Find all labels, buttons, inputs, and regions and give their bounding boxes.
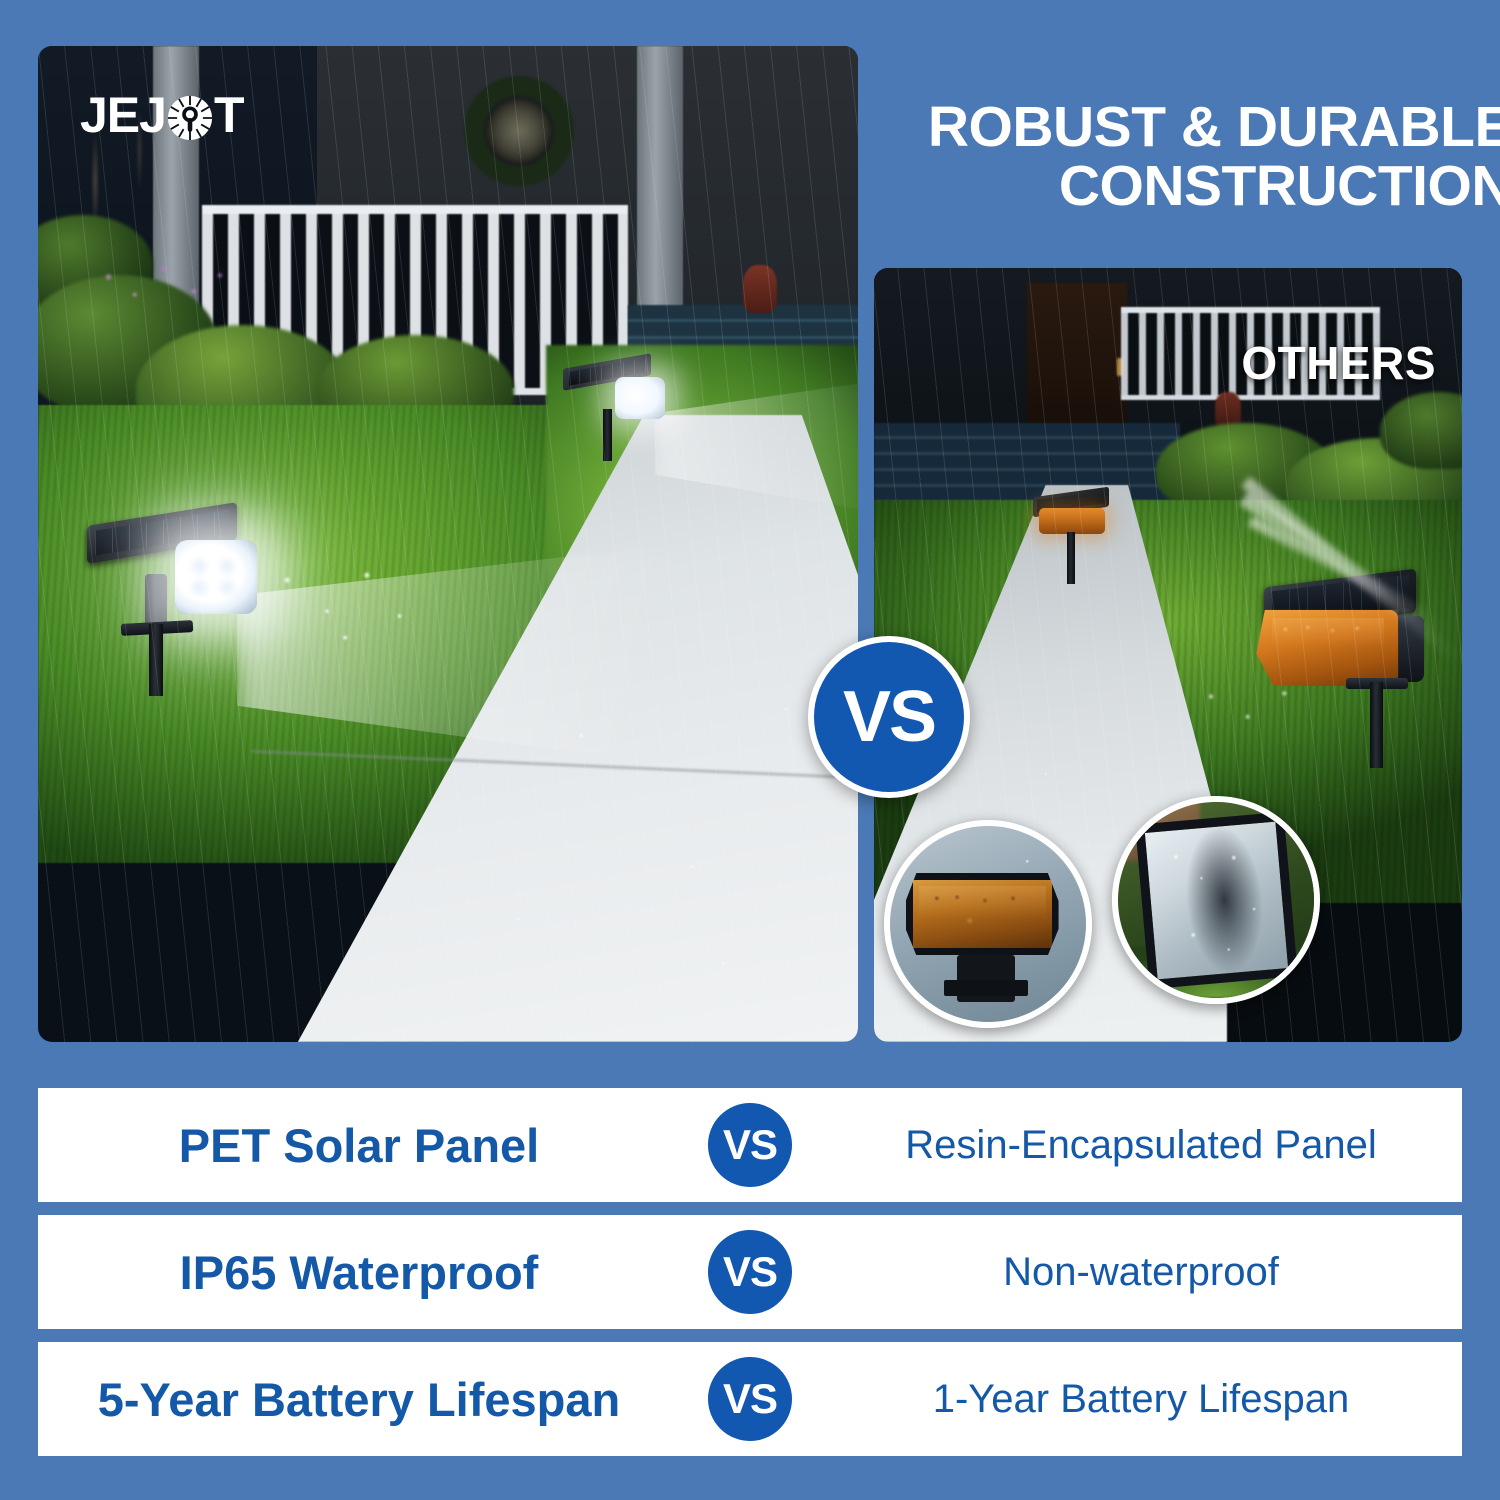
page-title: ROBUST & DURABLE CONSTRUCTION	[898, 98, 1500, 215]
mounting-bracket	[957, 955, 1016, 1002]
ground-stake	[1370, 682, 1383, 768]
ground-stake	[149, 624, 163, 696]
sunburst-o-icon	[167, 95, 213, 141]
feature-ours: PET Solar Panel	[38, 1118, 750, 1173]
headline-line-1: ROBUST & DURABLE	[898, 98, 1500, 157]
vs-badge-row: VS	[703, 1352, 797, 1446]
inset-degraded-panel	[1112, 796, 1320, 1004]
feature-ours: 5-Year Battery Lifespan	[38, 1372, 750, 1427]
comparison-row: PET Solar Panel VS Resin-Encapsulated Pa…	[38, 1088, 1462, 1202]
feature-ours: IP65 Waterproof	[38, 1245, 750, 1300]
ground-stake	[603, 409, 612, 461]
solar-spotlight-foreground	[87, 504, 287, 694]
purple-flowers	[79, 245, 243, 325]
feature-theirs: Non-waterproof	[750, 1250, 1462, 1295]
logo-text-after: T	[214, 86, 244, 144]
competitor-light-foreground	[1250, 578, 1460, 768]
others-label: OTHERS	[1241, 336, 1436, 390]
inset-corroded-panel	[884, 820, 1092, 1028]
ground-stake	[1067, 532, 1075, 584]
vs-badge-row: VS	[703, 1225, 797, 1319]
photo-others-product: OTHERS	[874, 268, 1462, 1042]
feature-theirs: 1-Year Battery Lifespan	[750, 1377, 1462, 1422]
headline-line-2: CONSTRUCTION	[898, 157, 1500, 216]
vs-badge-hero: VS	[808, 636, 970, 798]
feature-theirs: Resin-Encapsulated Panel	[750, 1123, 1462, 1168]
logo-text-before: JEJ	[80, 86, 166, 144]
dim-orange-head	[1256, 610, 1398, 686]
competitor-light-distant	[1033, 492, 1143, 592]
vs-badge-row: VS	[703, 1098, 797, 1192]
corroded-amber-panel	[906, 873, 1059, 955]
frosted-solar-panel	[1135, 811, 1298, 988]
comparison-row: 5-Year Battery Lifespan VS 1-Year Batter…	[38, 1342, 1462, 1456]
led-head	[175, 540, 257, 614]
comparison-table: PET Solar Panel VS Resin-Encapsulated Pa…	[38, 1088, 1462, 1469]
door-wreath	[464, 76, 574, 186]
terracotta-vase	[743, 265, 777, 313]
photo-jejot-product: JEJ	[38, 46, 858, 1042]
comparison-row: IP65 Waterproof VS Non-waterproof	[38, 1215, 1462, 1329]
dim-orange-head	[1039, 508, 1105, 534]
hero-comparison: JEJ	[38, 46, 1462, 1042]
led-head	[615, 377, 665, 419]
solar-spotlight-distant	[563, 355, 683, 465]
brand-logo: JEJ	[80, 86, 244, 144]
